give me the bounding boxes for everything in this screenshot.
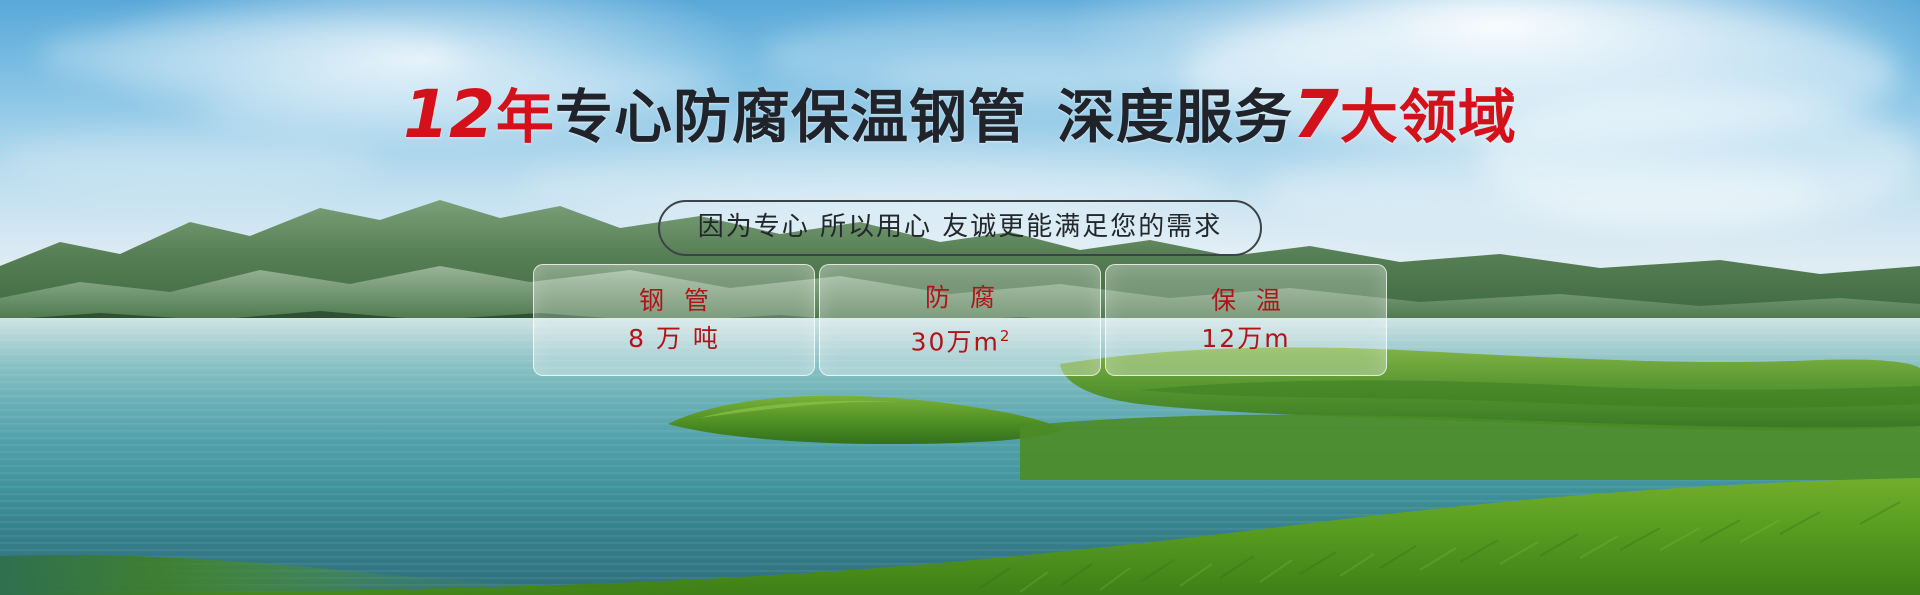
stat-card-label: 防 腐 [919,283,1001,313]
stat-card-value-text: 8 万 吨 [628,324,720,353]
headline-service-text: 深度服务 [1057,83,1293,151]
headline: 12年专心防腐保温钢管深度服务7大领域 [0,82,1920,150]
stat-card-list: 钢 管 8 万 吨 防 腐 30万m2 保 温 12万m [533,264,1387,374]
headline-main-text: 专心防腐保温钢管 [555,83,1027,151]
stat-card-steel-pipe[interactable]: 钢 管 8 万 吨 [533,264,815,376]
headline-fields-text: 大领域 [1340,83,1517,151]
promo-banner: 12年专心防腐保温钢管深度服务7大领域 因为专心 所以用心 友诚更能满足您的需求… [0,0,1920,595]
headline-years-unit: 年 [496,83,555,151]
headline-fields-number: 7 [1293,76,1340,153]
stat-card-value: 12万m [1201,324,1290,354]
subtitle-container: 因为专心 所以用心 友诚更能满足您的需求 [0,200,1920,256]
stat-card-anticorrosion[interactable]: 防 腐 30万m2 [819,264,1101,376]
stat-card-label: 钢 管 [633,286,715,316]
banner-content: 12年专心防腐保温钢管深度服务7大领域 因为专心 所以用心 友诚更能满足您的需求… [0,0,1920,595]
stat-card-value: 30万m2 [911,321,1010,357]
subtitle-pill: 因为专心 所以用心 友诚更能满足您的需求 [658,200,1263,256]
headline-years-number: 12 [403,76,496,153]
stat-card-value-text: 30万m [911,327,1000,356]
stat-card-value: 8 万 吨 [628,324,720,354]
stat-card-value-text: 12万m [1201,324,1290,353]
stat-card-insulation[interactable]: 保 温 12万m [1105,264,1387,376]
stat-card-value-superscript: 2 [1000,327,1010,345]
stat-card-label: 保 温 [1205,286,1287,316]
